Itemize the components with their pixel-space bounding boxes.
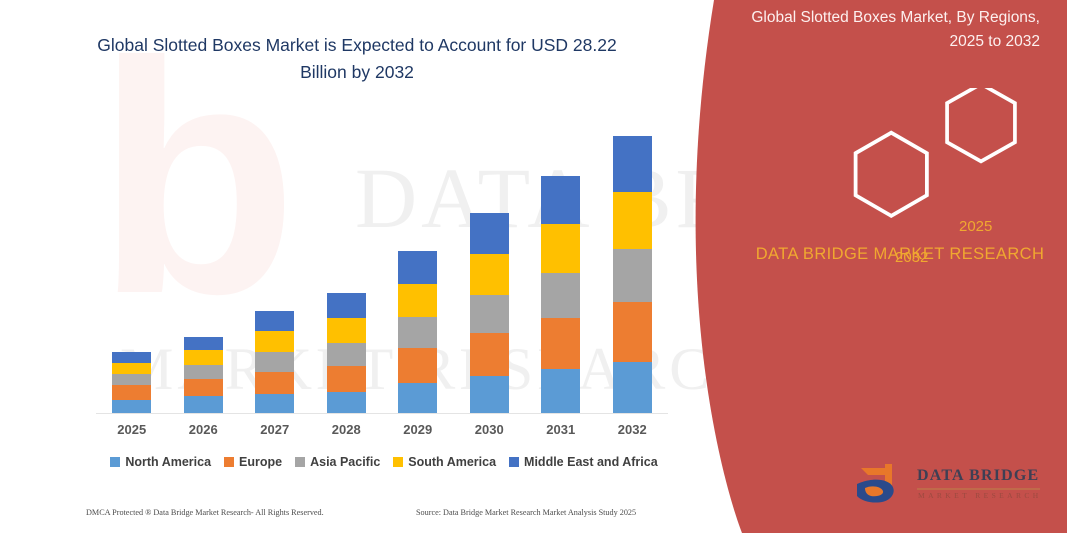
infographic-canvas: b DATA BRIDGE MARKET RESEARCH Global Slo… [0, 0, 1067, 533]
bar-segment [327, 392, 366, 413]
logo-secondary-text: MARKET RESEARCH [918, 491, 1042, 500]
bar-segment [327, 293, 366, 318]
bar-segment [613, 362, 652, 413]
panel-title: Global Slotted Boxes Market, By Regions,… [740, 6, 1040, 54]
bar-column [239, 104, 311, 413]
legend-label: Middle East and Africa [524, 455, 658, 469]
bar-stack [255, 311, 294, 413]
page-title: Global Slotted Boxes Market is Expected … [72, 32, 642, 86]
bar-segment [255, 311, 294, 331]
bar-segment [470, 254, 509, 295]
legend-label: Asia Pacific [310, 455, 380, 469]
x-axis-tick: 2029 [382, 422, 454, 437]
footer-source-note: Source: Data Bridge Market Research Mark… [416, 508, 636, 517]
bar-stack [470, 213, 509, 413]
logo-divider [917, 488, 1040, 490]
bar-segment [398, 317, 437, 348]
bar-stack [112, 352, 151, 413]
bar-segment [184, 396, 223, 413]
legend-item[interactable]: Europe [224, 455, 282, 469]
logo-primary-text: DATA BRIDGE [917, 467, 1039, 485]
x-axis-labels: 20252026202720282029203020312032 [96, 422, 668, 437]
bar-stack [398, 251, 437, 413]
bar-segment [255, 352, 294, 372]
bar-segment [327, 318, 366, 343]
legend-item[interactable]: Middle East and Africa [509, 455, 658, 469]
bar-segment [613, 192, 652, 249]
hexagon-group: 2025 2032 [820, 88, 1060, 208]
bar-segment [470, 333, 509, 376]
logo-mark-icon [855, 462, 913, 506]
bar-segment [613, 302, 652, 362]
x-axis-tick: 2027 [239, 422, 311, 437]
bar-segment [184, 337, 223, 350]
bar-column [454, 104, 526, 413]
legend-label: North America [125, 455, 211, 469]
bar-segment [327, 366, 366, 392]
x-axis-tick: 2030 [454, 422, 526, 437]
x-axis-tick: 2032 [597, 422, 669, 437]
bar-segment [541, 318, 580, 369]
bar-segment [470, 295, 509, 333]
x-axis-tick: 2025 [96, 422, 168, 437]
bar-segment [112, 363, 151, 374]
bar-segment [398, 383, 437, 413]
brand-name: DATA BRIDGE MARKET RESEARCH [755, 240, 1045, 268]
bar-segment [112, 374, 151, 385]
bar-segment [327, 343, 366, 366]
legend-color-swatch [224, 457, 234, 467]
hexagon-end-year [856, 133, 927, 216]
bar-segment [398, 251, 437, 284]
bar-stack [184, 337, 223, 413]
bar-column [96, 104, 168, 413]
bar-segment [255, 372, 294, 394]
bar-segment [541, 273, 580, 318]
legend-color-swatch [295, 457, 305, 467]
legend-color-swatch [393, 457, 403, 467]
legend-label: South America [408, 455, 496, 469]
bar-segment [470, 376, 509, 413]
bar-segment [398, 284, 437, 317]
bar-column [311, 104, 383, 413]
chart-baseline [96, 413, 668, 414]
stacked-bar-chart [96, 104, 668, 413]
footer: DMCA Protected ® Data Bridge Market Rese… [86, 508, 686, 517]
bar-column [525, 104, 597, 413]
hexagon-start-year-label: 2025 [959, 218, 992, 235]
bar-stack [613, 136, 652, 413]
bar-segment [398, 348, 437, 383]
legend-item[interactable]: Asia Pacific [295, 455, 380, 469]
bar-column [382, 104, 454, 413]
bar-segment [541, 176, 580, 224]
bar-segment [112, 352, 151, 363]
bar-segment [470, 213, 509, 254]
bar-segment [613, 136, 652, 192]
legend-color-swatch [110, 457, 120, 467]
footer-dmca-notice: DMCA Protected ® Data Bridge Market Rese… [86, 508, 416, 517]
x-axis-tick: 2026 [168, 422, 240, 437]
bar-segment [255, 331, 294, 352]
legend-color-swatch [509, 457, 519, 467]
brand-logo: DATA BRIDGE MARKET RESEARCH [855, 462, 1055, 512]
chart-legend: North AmericaEuropeAsia PacificSouth Ame… [96, 455, 672, 469]
x-axis-tick: 2031 [525, 422, 597, 437]
bar-segment [112, 385, 151, 400]
legend-item[interactable]: South America [393, 455, 496, 469]
bar-segment [541, 369, 580, 413]
bar-segment [613, 249, 652, 302]
bar-segment [112, 400, 151, 413]
bar-segment [541, 224, 580, 273]
x-axis-tick: 2028 [311, 422, 383, 437]
hexagon-start-year [947, 88, 1015, 161]
bar-segment [255, 394, 294, 413]
bar-column [168, 104, 240, 413]
bar-segment [184, 379, 223, 396]
bar-segment [184, 365, 223, 379]
bar-stack [541, 176, 580, 413]
legend-label: Europe [239, 455, 282, 469]
legend-item[interactable]: North America [110, 455, 211, 469]
bar-stack [327, 293, 366, 413]
bar-column [597, 104, 669, 413]
bar-segment [184, 350, 223, 365]
brand-panel-content: Global Slotted Boxes Market, By Regions,… [745, 0, 1067, 533]
